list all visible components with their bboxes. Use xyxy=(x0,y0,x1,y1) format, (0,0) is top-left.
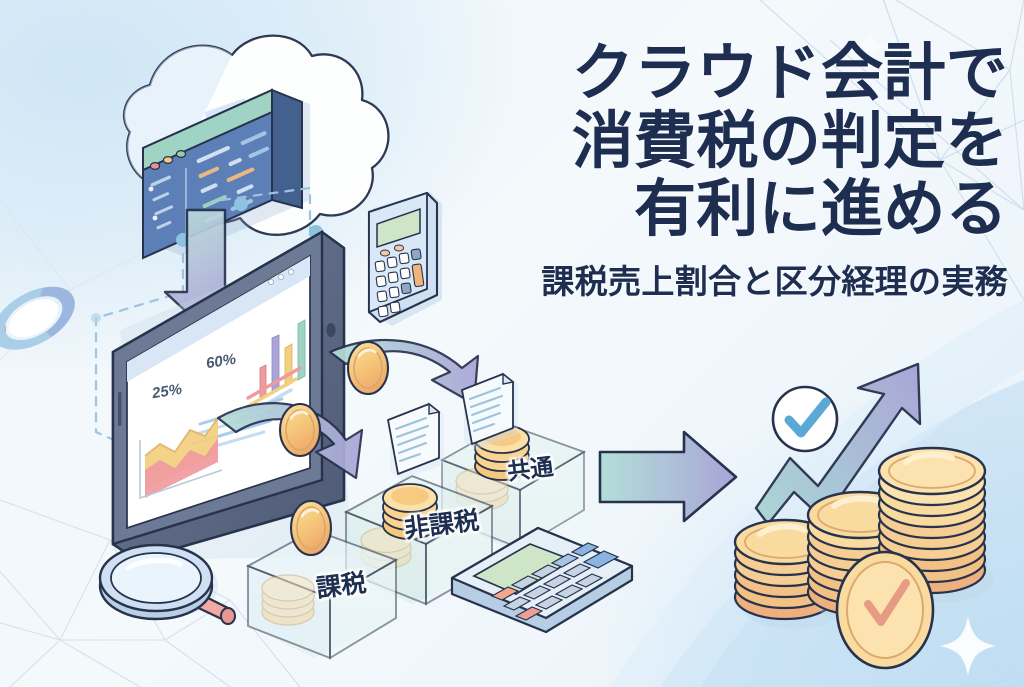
taxable-box-label: 課税 xyxy=(314,563,368,605)
headline-block: クラウド会計で 消費税の判定を 有利に進める 課税売上割合と区分経理の実務 xyxy=(468,40,1008,303)
coin-icon xyxy=(280,404,320,456)
coin-icon xyxy=(348,342,388,394)
title-line-3: 有利に進める xyxy=(468,176,1008,244)
connector-dot xyxy=(234,197,248,211)
common-box-label: 共通 xyxy=(505,447,555,486)
right-arrow-icon xyxy=(600,432,736,521)
document-icon xyxy=(388,404,444,480)
subtitle: 課税売上割合と区分経理の実務 xyxy=(468,255,1008,303)
title-line-2: 消費税の判定を xyxy=(468,108,1008,176)
check-coin-icon xyxy=(837,552,933,668)
coin-stack-icon xyxy=(262,575,314,625)
donut-chart-60 xyxy=(0,292,81,345)
calculator-icon xyxy=(369,192,442,326)
coin-icon xyxy=(291,501,331,555)
check-circle-icon xyxy=(773,387,837,451)
title-line-1: クラウド会計で xyxy=(468,40,1008,108)
poster-canvas: 25% 60% 課税 非課税 共通 クラウド会計で 消費税の判定を 有利に進める… xyxy=(0,0,1024,687)
